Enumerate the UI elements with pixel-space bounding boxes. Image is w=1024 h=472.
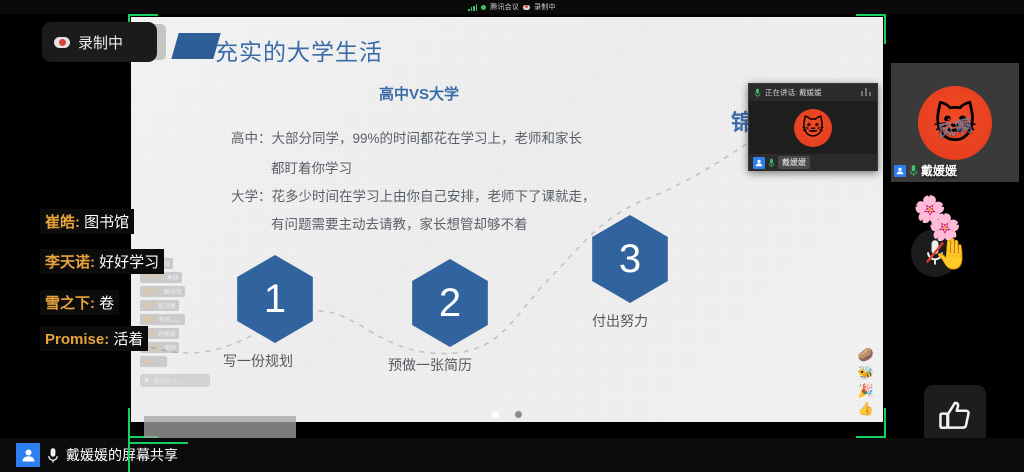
hand-glyph: 🤚 [934,238,971,271]
mini-chat-who: 崔皓 [143,315,155,324]
hand-reaction-icon: 🤚 [934,240,971,270]
chat-text: 图书馆 [84,214,129,231]
page-dot-active[interactable] [492,411,499,418]
step-number: 3 [619,239,641,279]
mini-chat-list[interactable]: 崔皓 足球 Kindred 考研 雪之下 图书馆 李天 处对象 崔皓 考研。。。… [140,258,210,387]
microphone-on-icon [47,447,59,464]
mini-chat-text: 考研 [167,273,179,282]
chat-message: 雪之下: 卷 [40,290,119,315]
participant-rail: 🐱 风啊 戴媛媛 🌸 🌸 🤚 [886,14,1024,472]
audio-wave-icon [861,88,871,96]
mini-chat-who: 李天 [143,301,155,310]
reaction-glyph: 👍 [858,402,874,415]
share-border-corner-icon [128,14,158,16]
active-indicator-icon [481,5,486,10]
chat-text: 活着 [113,331,143,348]
slide-body-line-1: 高中：大部分同学，99%的时间都花在学习上，老师和家长 [231,127,582,147]
list-item: 崔皓 考研。。。 [140,314,185,325]
title-accent-bar [171,33,220,59]
mini-chat-text: 考研。。。 [158,315,182,324]
os-status-bar: 腾讯会议 录制中 [0,0,1024,14]
recording-badge[interactable]: 录制中 [42,22,157,62]
status-bar-recording-label: 录制中 [534,2,556,12]
mini-chat-who: 雪之下 [143,287,161,296]
reaction-glyph: 🐝 [858,366,874,379]
recording-cloud-icon [523,5,530,10]
participant-tile[interactable]: 🐱 风啊 戴媛媛 [891,63,1019,182]
step-label: 付出努力 [592,311,648,331]
mini-chat-who: 崔··· [143,357,155,366]
presentation-slide[interactable]: 充实的大学生活 高中VS大学 高中：大部分同学，99%的时间都花在学习上，老师和… [131,17,883,422]
pip-footer: 戴媛媛 [749,154,877,171]
step-label: 预做一张简历 [388,355,472,375]
floating-reactions: 🥔 🐝 🎉 👍 [852,348,880,434]
smiley-icon[interactable]: ☻ [143,377,150,384]
chat-text: 卷 [99,295,114,312]
step-hexagon-2: 2 预做一张简历 [406,259,494,347]
chat-sender: Promise: [45,331,109,348]
page-dot[interactable] [515,411,522,418]
screen-share-label: 戴媛媛的屏幕共享 [66,445,178,465]
person-icon [753,157,765,169]
list-item: 李天 处对象 [140,300,179,311]
list-item: 崔··· ··· [140,356,167,367]
mini-chat-text: 好朋友 [158,329,176,338]
pip-header: 正在讲话: 戴媛媛 [749,84,877,101]
step-number: 1 [264,279,286,319]
person-icon [894,165,906,177]
status-bar-app-name: 腾讯会议 [490,2,519,12]
slide-body-line-3: 大学：花多少时间在学习上由你自己安排，老师下了课就走， [231,185,596,205]
slide-body-line-2: 都盯着你学习 [271,157,352,177]
chat-input[interactable]: ☻ 说点什么… [140,374,210,387]
share-border-corner-icon [856,14,886,16]
chat-text: 好好学习 [99,254,159,271]
share-border-guide-icon [128,432,130,472]
reaction-glyph: 🎉 [858,384,874,397]
pip-speaking-label: 正在讲话: 戴媛媛 [765,87,822,98]
avatar-glyph: 🐱 [802,117,825,139]
pip-participant-name: 戴媛媛 [778,156,810,169]
slide-subtitle: 高中VS大学 [379,83,459,104]
participant-name: 戴媛媛 [921,162,957,179]
microphone-on-icon [768,158,775,168]
step-number: 2 [439,283,461,323]
cat-avatar-icon: 🐱 [794,109,832,147]
shared-screen-stage[interactable]: 充实的大学生活 高中VS大学 高中：大部分同学，99%的时间都花在学习上，老师和… [128,14,886,438]
mini-chat-text: ··· [158,357,164,366]
chat-message: Promise: 活着 [40,326,148,351]
reaction-glyph: 🥔 [858,348,874,361]
chat-message: 李天诺: 好好学习 [40,249,164,274]
mini-chat-text: 图书馆 [164,287,182,296]
tile-footer: 戴媛媛 [894,162,957,179]
slide-title: 充实的大学生活 [215,33,383,67]
share-hint-strip [144,416,296,438]
chat-input-placeholder: 说点什么… [153,376,183,385]
microphone-icon [754,88,761,98]
chat-sender: 李天诺: [45,254,95,271]
mini-chat-text: 保研 [164,343,176,352]
flower-glyph: 🌸 [929,214,961,240]
hexagon-shape: 2 [406,259,494,347]
signal-bars-icon [468,4,477,11]
chat-sender: 崔皓: [45,214,80,231]
microphone-on-icon [909,164,918,177]
hexagon-shape: 3 [586,215,674,303]
pip-video-body: 🐱 [749,101,877,154]
hexagon-shape: 1 [231,255,319,343]
mini-chat-who: Kindred [143,273,164,282]
step-label: 写一份规划 [223,351,293,371]
share-border-guide-icon [128,442,188,444]
recording-badge-label: 录制中 [78,32,123,53]
thumbs-up-icon [937,398,973,434]
slide-body-line-4: 有问题需要主动去请教，家长想管却够不着 [271,213,528,233]
chat-message: 崔皓: 图书馆 [40,209,134,234]
recording-cloud-icon [54,37,70,48]
active-speaker-pip[interactable]: 正在讲话: 戴媛媛 🐱 戴媛媛 [748,83,878,171]
chat-sender: 雪之下: [45,295,95,312]
step-hexagon-1: 1 写一份规划 [231,255,319,343]
person-icon [16,443,40,467]
mini-chat-text: 处对象 [158,301,176,310]
list-item: 雪之下 图书馆 [140,286,185,297]
step-hexagon-3: 3 付出努力 [586,215,674,303]
